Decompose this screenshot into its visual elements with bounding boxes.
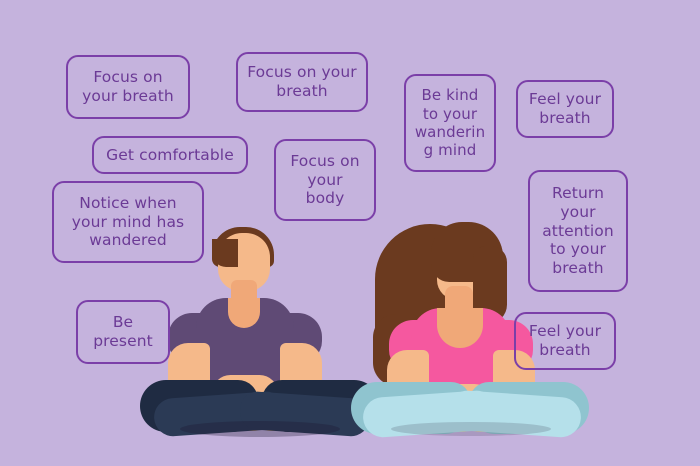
callout-be-present: Be present [76,300,170,364]
callout-focus-breath-1: Focus on your breath [66,55,190,119]
callout-notice-wandered: Notice when your mind has wandered [52,181,204,263]
callout-feel-breath-bottom: Feel your breath [514,312,616,370]
callout-focus-body: Focus on your body [274,139,376,221]
illustration-canvas: Focus on your breath Focus on your breat… [0,0,700,466]
callout-get-comfortable: Get comfortable [92,136,248,174]
male-shadow [180,421,340,437]
callout-focus-breath-2: Focus on your breath [236,52,368,112]
callout-return-attention: Return your attention to your breath [528,170,628,292]
callout-feel-breath-top: Feel your breath [516,80,614,138]
female-shadow [391,422,551,436]
male-hair-fringe [212,239,238,267]
callout-be-kind: Be kind to your wanderin g mind [404,74,496,172]
